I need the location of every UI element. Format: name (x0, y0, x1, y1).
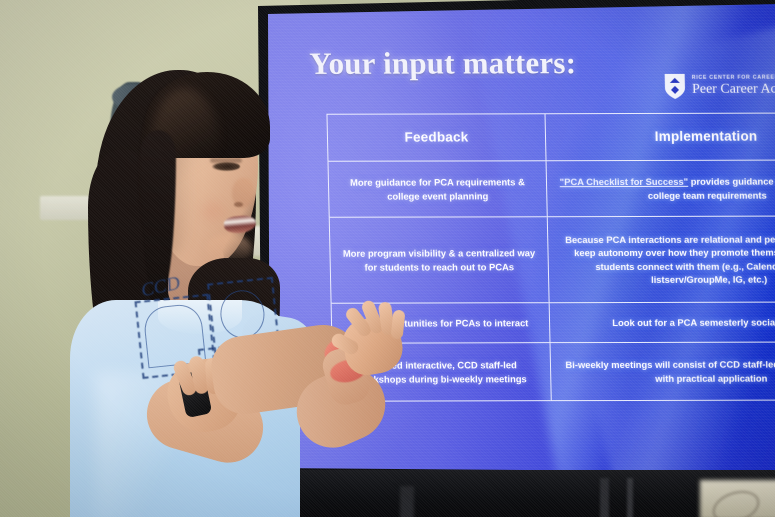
tv-stand-post-2 (627, 478, 633, 517)
tv-stand-post (600, 478, 609, 517)
presenter: CCD (0, 0, 360, 517)
photo-scene: Your input matters: RICE CENTER FOR CARE… (0, 0, 775, 517)
tv-stand-leg (400, 486, 414, 517)
nostril (234, 202, 243, 207)
